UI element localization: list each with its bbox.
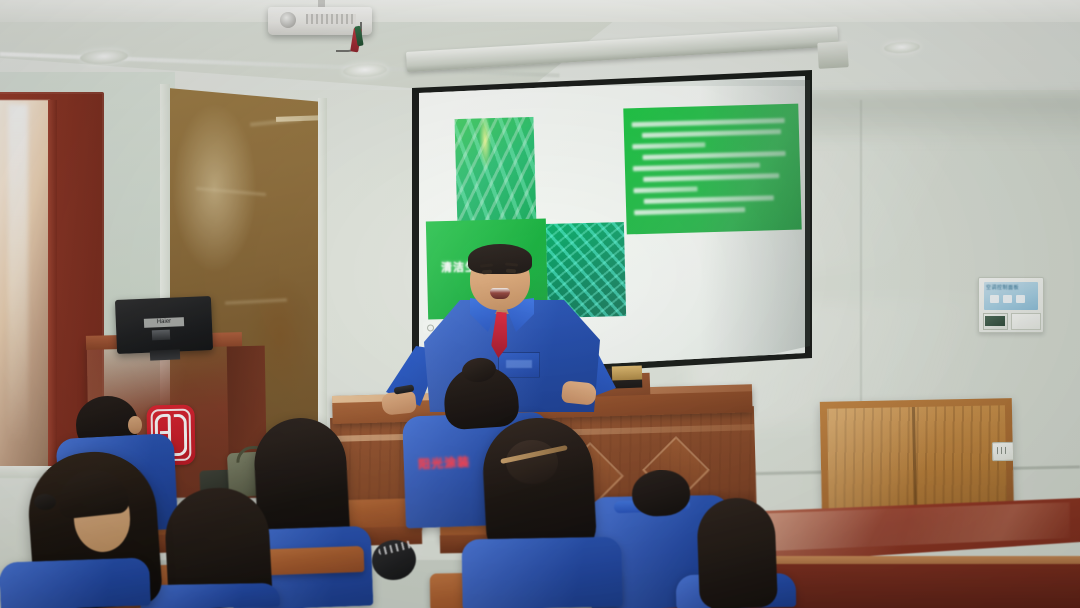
monitor-stand: [150, 349, 180, 360]
projector-lens-icon: [280, 12, 296, 28]
presenter-eye-left: [482, 270, 492, 275]
presentation-play-icon[interactable]: [427, 324, 434, 331]
window-mullion: [48, 100, 57, 472]
hvac-sub-lcd: [985, 316, 1005, 326]
lectern-gold-trim: [612, 365, 642, 380]
attendee-ear: [128, 416, 142, 434]
hvac-segment-temp[interactable]: [1003, 295, 1012, 303]
presenter-mouth: [490, 288, 510, 299]
hvac-segment-fan[interactable]: [1016, 295, 1025, 303]
presenter-eye-right: [506, 269, 516, 274]
hvac-panel-display-text: 空调控制面板: [986, 284, 1036, 292]
monitor-port: [152, 330, 170, 341]
presenter-badge: [506, 360, 532, 368]
slide-image-pipeline-upper: [454, 117, 536, 229]
presenter-hair: [468, 244, 532, 274]
presenter-left-hand: [381, 390, 417, 415]
hvac-segment-mode[interactable]: [990, 295, 999, 303]
presenter-right-hand: [561, 380, 597, 405]
conference-room-photo: 清洁生产措施 空调控制面板: [0, 0, 1080, 608]
window-light-glare: [8, 104, 28, 444]
monitor-brand-label: Haier: [144, 317, 184, 328]
ceiling-perimeter-band: [0, 0, 1080, 22]
hvac-side-plate: [1011, 313, 1041, 330]
outlet-slots: [997, 447, 1009, 454]
attendee-bottom-left-body: [0, 557, 151, 608]
attendee-bun-hairstick-body: [461, 537, 622, 608]
attendee-far-right-hair: [696, 497, 778, 608]
hair-tie: [34, 494, 56, 510]
screen-housing-end-cap: [817, 41, 848, 69]
slide-text-panel: [623, 104, 801, 235]
attendee-hair-bun: [506, 440, 558, 484]
podium-logo-glyph-j: [174, 414, 188, 456]
